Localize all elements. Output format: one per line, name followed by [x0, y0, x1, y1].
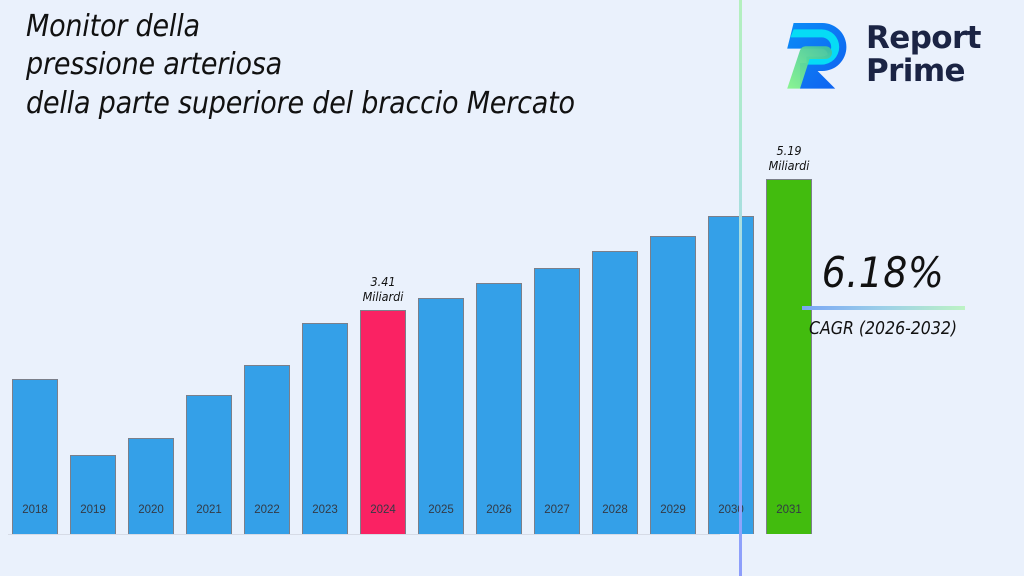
- x-tick-2029: 2029: [641, 504, 705, 516]
- bar-2027[interactable]: [534, 268, 580, 534]
- x-tick-2018: 2018: [3, 504, 67, 516]
- bar-2020[interactable]: [128, 438, 174, 534]
- bar-2025[interactable]: [418, 298, 464, 534]
- cagr-caption: CAGR (2026-2032): [742, 319, 1024, 339]
- bar-2024[interactable]: [360, 310, 406, 534]
- x-tick-2020: 2020: [119, 504, 183, 516]
- x-tick-2022: 2022: [235, 504, 299, 516]
- x-tick-2026: 2026: [467, 504, 531, 516]
- x-tick-2028: 2028: [583, 504, 647, 516]
- summary-panel: Report Prime 6.18% CAGR (2026-2032): [742, 0, 1024, 576]
- x-axis-line: [8, 534, 720, 535]
- bar-2028[interactable]: [592, 251, 638, 534]
- bar-2019[interactable]: [70, 455, 116, 534]
- brand-wordmark: Report Prime: [866, 22, 981, 88]
- x-tick-2019: 2019: [61, 504, 125, 516]
- infographic-root: Monitor della pressione arteriosa della …: [0, 0, 1024, 576]
- chart-panel: Monitor della pressione arteriosa della …: [0, 0, 740, 576]
- x-tick-2025: 2025: [409, 504, 473, 516]
- x-tick-2023: 2023: [293, 504, 357, 516]
- bar-chart: 2018201920202021202220233.41 Miliardi202…: [0, 0, 740, 576]
- x-tick-2027: 2027: [525, 504, 589, 516]
- report-prime-logo-mark-icon: [776, 15, 856, 95]
- x-tick-2021: 2021: [177, 504, 241, 516]
- cagr-divider: [802, 306, 965, 310]
- bar-2029[interactable]: [650, 236, 696, 534]
- bar-2026[interactable]: [476, 283, 522, 534]
- bar-2023[interactable]: [302, 323, 348, 534]
- brand-logo: Report Prime: [776, 12, 1016, 98]
- cagr-block: 6.18% CAGR (2026-2032): [742, 252, 1024, 339]
- bar-value-label-2024: 3.41 Miliardi: [346, 274, 420, 305]
- cagr-value: 6.18%: [742, 252, 1024, 294]
- x-tick-2024: 2024: [351, 504, 415, 516]
